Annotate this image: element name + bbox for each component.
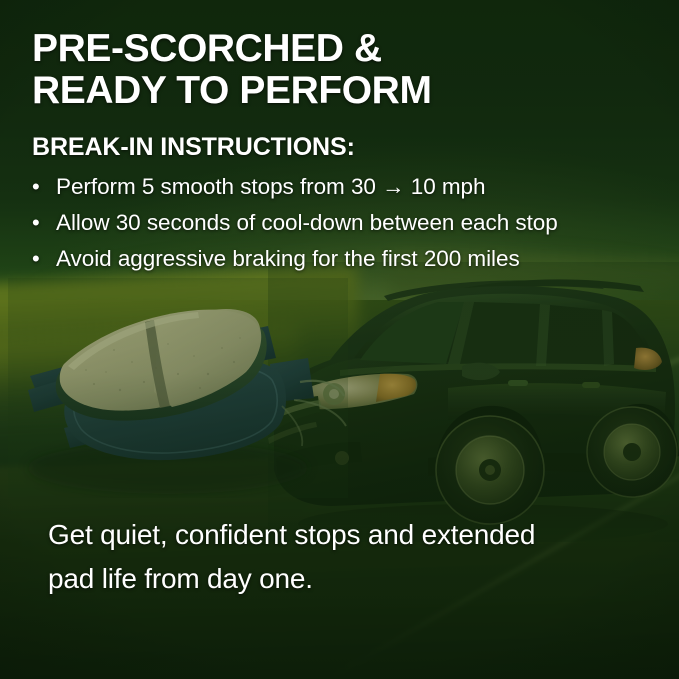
infographic-canvas: PRE-SCORCHED & READY TO PERFORM BREAK-IN… bbox=[0, 0, 679, 679]
headline: PRE-SCORCHED & READY TO PERFORM bbox=[32, 28, 652, 112]
instructions-list: • Perform 5 smooth stops from 30 → 10 mp… bbox=[32, 169, 632, 277]
bullet-dot-icon: • bbox=[32, 169, 56, 205]
list-item-label: Allow 30 seconds of cool-down between ea… bbox=[56, 205, 632, 241]
headline-line-2: READY TO PERFORM bbox=[32, 70, 652, 112]
list-item: • Avoid aggressive braking for the first… bbox=[32, 241, 632, 277]
list-item: • Perform 5 smooth stops from 30 → 10 mp… bbox=[32, 169, 632, 205]
tagline-line-1: Get quiet, confident stops and extended bbox=[48, 513, 648, 557]
list-item-label: Perform 5 smooth stops from 30 → 10 mph bbox=[56, 169, 632, 205]
tagline-line-2: pad life from day one. bbox=[48, 557, 648, 601]
tagline: Get quiet, confident stops and extended … bbox=[48, 513, 648, 601]
brake-pads-illustration bbox=[8, 278, 348, 498]
instructions-title: BREAK-IN INSTRUCTIONS: bbox=[32, 133, 355, 162]
headline-line-1: PRE-SCORCHED & bbox=[32, 28, 652, 70]
list-item-label: Avoid aggressive braking for the first 2… bbox=[56, 241, 632, 277]
brake-pads-svg bbox=[8, 278, 348, 498]
bullet-dot-icon: • bbox=[32, 205, 56, 241]
pads-green-wash bbox=[8, 278, 348, 498]
bullet-dot-icon: • bbox=[32, 241, 56, 277]
list-item: • Allow 30 seconds of cool-down between … bbox=[32, 205, 632, 241]
